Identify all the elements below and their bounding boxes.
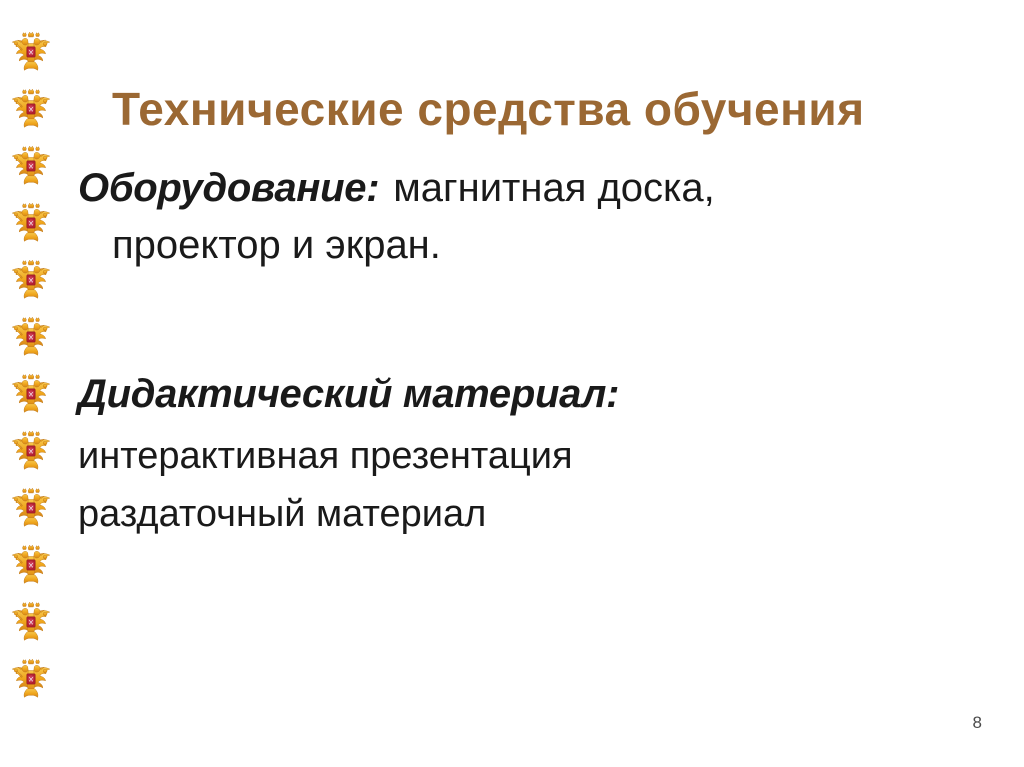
russian-coat-of-arms-icon: [7, 142, 55, 189]
didactic-material-label: Дидактический материал:: [78, 366, 978, 423]
didactic-item-handout: раздаточный материал: [78, 486, 978, 544]
russian-coat-of-arms-icon: [7, 256, 55, 303]
russian-coat-of-arms-icon: [7, 655, 55, 702]
russian-coat-of-arms-icon: [7, 199, 55, 246]
equipment-label: Оборудование:: [78, 166, 379, 210]
equipment-paragraph: Оборудование:магнитная доска, проектор и…: [78, 160, 978, 274]
russian-coat-of-arms-icon: [7, 427, 55, 474]
equipment-value-second: проектор и экран.: [78, 217, 978, 274]
slide-body: Оборудование:магнитная доска, проектор и…: [78, 160, 978, 544]
russian-coat-of-arms-icon: [7, 484, 55, 531]
russian-coat-of-arms-icon: [7, 28, 55, 75]
russian-coat-of-arms-icon: [7, 541, 55, 588]
russian-coat-of-arms-icon: [7, 370, 55, 417]
emblem-decoration-strip: [0, 0, 62, 767]
equipment-value-first: магнитная доска,: [393, 166, 715, 210]
slide-canvas: Технические средства обучения Оборудован…: [0, 0, 1024, 767]
section-spacer: [78, 274, 978, 366]
slide-title: Технические средства обучения: [112, 85, 972, 135]
russian-coat-of-arms-icon: [7, 85, 55, 132]
page-number: 8: [973, 713, 982, 733]
russian-coat-of-arms-icon: [7, 598, 55, 645]
russian-coat-of-arms-icon: [7, 313, 55, 360]
didactic-item-presentation: интерактивная презентация: [78, 428, 978, 486]
